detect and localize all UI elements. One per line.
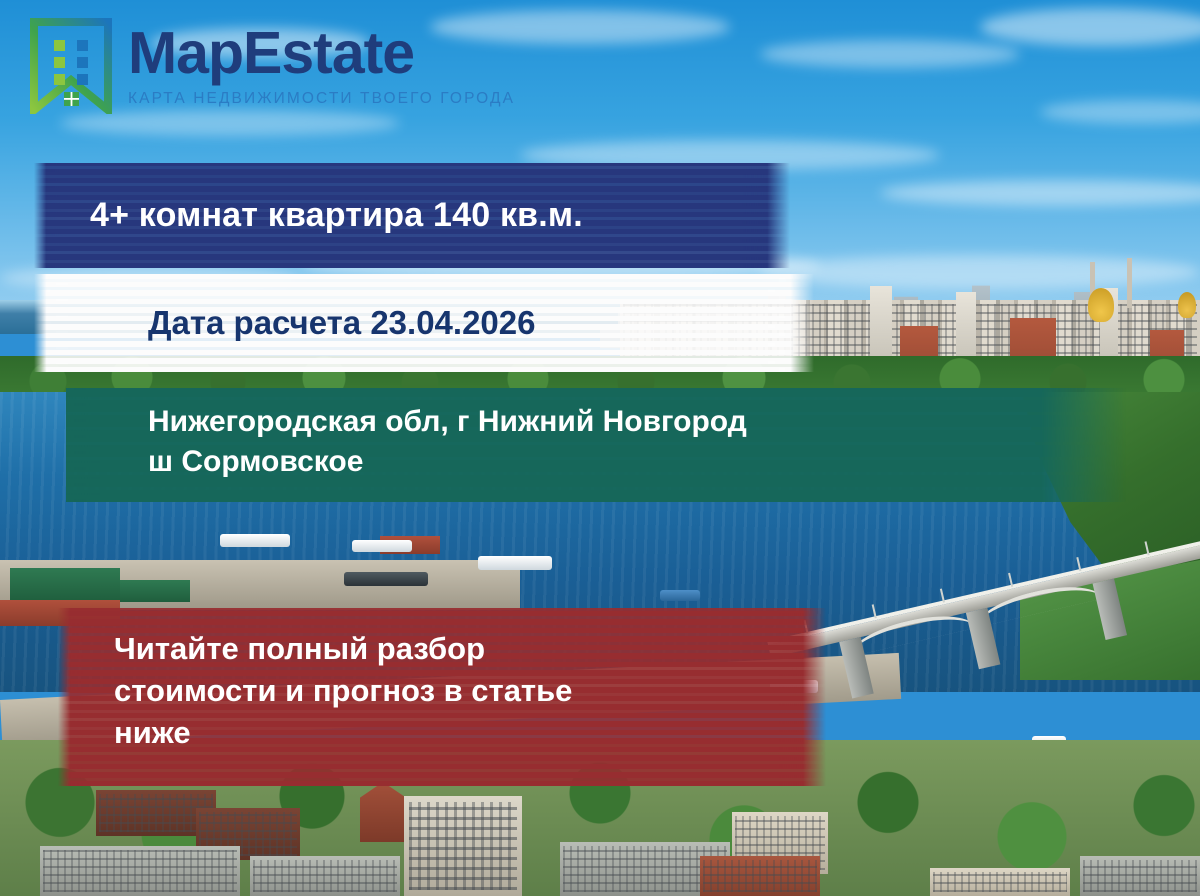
banner-address: Нижегородская обл, г Нижний Новгород ш С…	[66, 388, 1126, 502]
passenger-boat	[478, 556, 552, 570]
cta-line-3: ниже	[114, 712, 572, 754]
cloud	[760, 255, 1200, 289]
banner-calculation-date: Дата расчета 23.04.2026	[34, 274, 814, 372]
calculation-date-text: Дата расчета 23.04.2026	[148, 304, 535, 342]
church-dome	[1088, 288, 1114, 322]
banner-call-to-action[interactable]: Читайте полный разбор стоимости и прогно…	[58, 608, 826, 786]
church-dome	[1178, 292, 1196, 318]
residential-building	[40, 846, 240, 896]
cta-line-2: стоимости и прогноз в статье	[114, 670, 572, 712]
address-line-1: Нижегородская обл, г Нижний Новгород	[148, 402, 747, 442]
cta-text: Читайте полный разбор стоимости и прогно…	[114, 628, 572, 754]
boat	[352, 540, 412, 552]
address-line-2: ш Сормовское	[148, 442, 747, 482]
poster-canvas: MapEstate КАРТА НЕДВИЖИМОСТИ ТВОЕГО ГОРО…	[0, 0, 1200, 896]
green-roof-building	[10, 568, 120, 602]
property-summary-text: 4+ комнат квартира 140 кв.м.	[90, 196, 583, 235]
boat	[220, 534, 290, 547]
brand-name: MapEstate	[128, 24, 515, 83]
brick-building	[700, 856, 820, 896]
address-text: Нижегородская обл, г Нижний Новгород ш С…	[148, 402, 747, 482]
green-roof-building	[120, 580, 190, 602]
cloud	[760, 40, 1020, 68]
residential-building	[930, 868, 1070, 896]
factory-chimney	[1127, 258, 1132, 308]
brand-logo[interactable]: MapEstate КАРТА НЕДВИЖИМОСТИ ТВОЕГО ГОРО…	[28, 18, 515, 114]
cta-line-1: Читайте полный разбор	[114, 628, 572, 670]
high-rise-building	[404, 796, 522, 896]
cargo-barge	[344, 572, 428, 586]
boat	[660, 590, 700, 601]
banner-property-summary: 4+ комнат квартира 140 кв.м.	[34, 163, 790, 268]
bridge-pier	[1093, 579, 1127, 640]
residential-building	[250, 856, 400, 896]
brand-tagline: КАРТА НЕДВИЖИМОСТИ ТВОЕГО ГОРОДА	[128, 90, 515, 108]
bookmark-building-icon	[28, 18, 114, 114]
residential-building	[1080, 856, 1200, 896]
